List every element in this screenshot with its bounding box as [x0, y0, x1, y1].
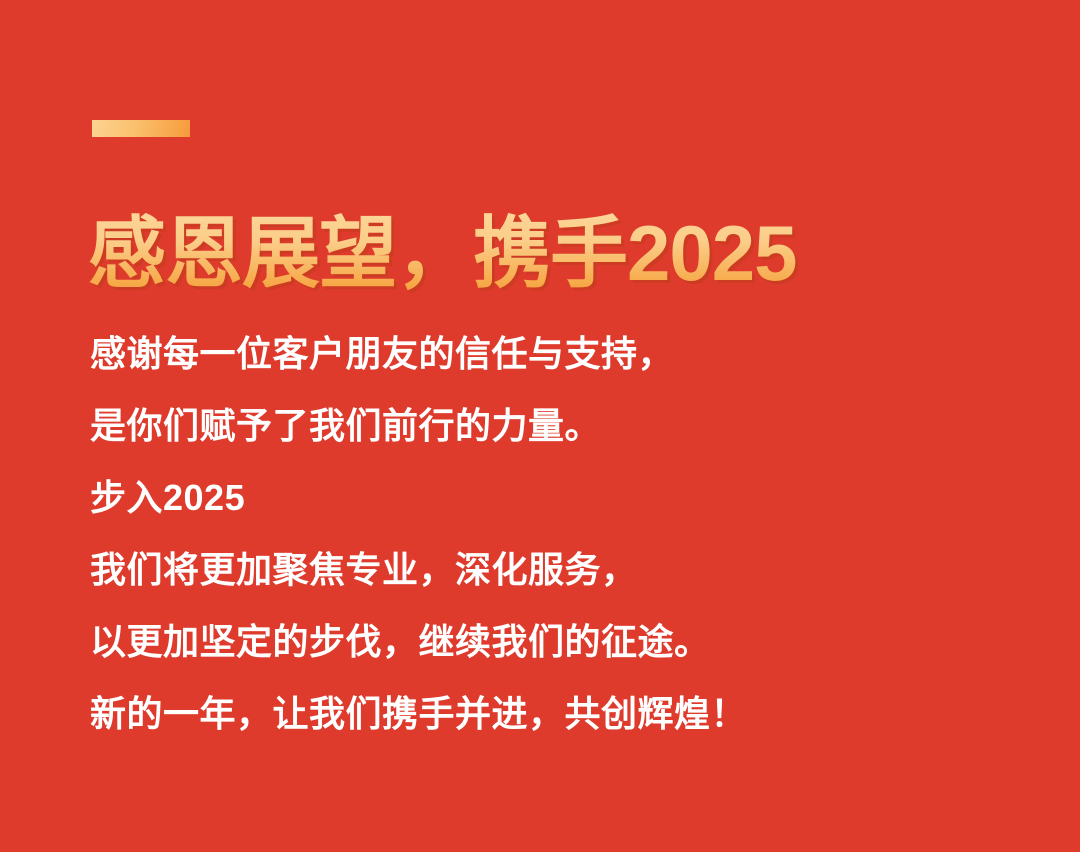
- body-line: 以更加坚定的步伐，继续我们的征途。: [90, 606, 990, 678]
- page-title: 感恩展望，携手2025: [88, 206, 797, 300]
- body-line: 新的一年，让我们携手并进，共创辉煌！: [90, 678, 990, 750]
- body-line: 步入2025: [90, 462, 990, 534]
- greeting-poster: 感恩展望，携手2025 感谢每一位客户朋友的信任与支持， 是你们赋予了我们前行的…: [0, 0, 1080, 852]
- body-line: 是你们赋予了我们前行的力量。: [90, 390, 990, 462]
- accent-bar-decoration: [92, 120, 190, 137]
- body-line: 感谢每一位客户朋友的信任与支持，: [90, 318, 990, 390]
- body-copy-block: 感谢每一位客户朋友的信任与支持， 是你们赋予了我们前行的力量。 步入2025 我…: [90, 318, 990, 750]
- body-line: 我们将更加聚焦专业，深化服务，: [90, 534, 990, 606]
